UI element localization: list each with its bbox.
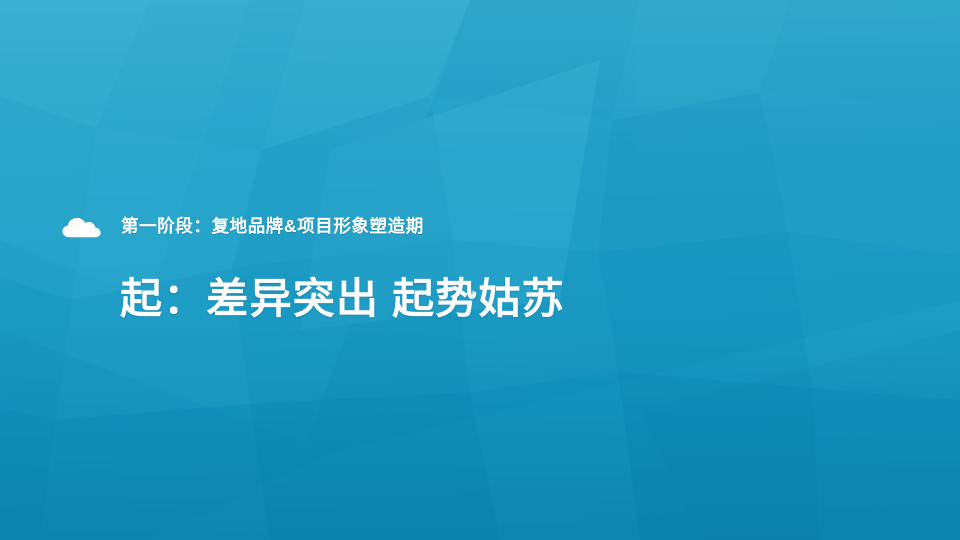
section-label-text: 第一阶段：复地品牌&项目形象塑造期: [121, 218, 424, 236]
slide-canvas: 第一阶段：复地品牌&项目形象塑造期 起：差异突出 起势姑苏: [0, 0, 960, 540]
slide-headline: 起：差异突出 起势姑苏: [120, 275, 565, 322]
cloud-icon: [62, 216, 101, 238]
section-label-row: 第一阶段：复地品牌&项目形象塑造期: [62, 213, 424, 241]
slide-content: 第一阶段：复地品牌&项目形象塑造期 起：差异突出 起势姑苏: [0, 0, 960, 540]
